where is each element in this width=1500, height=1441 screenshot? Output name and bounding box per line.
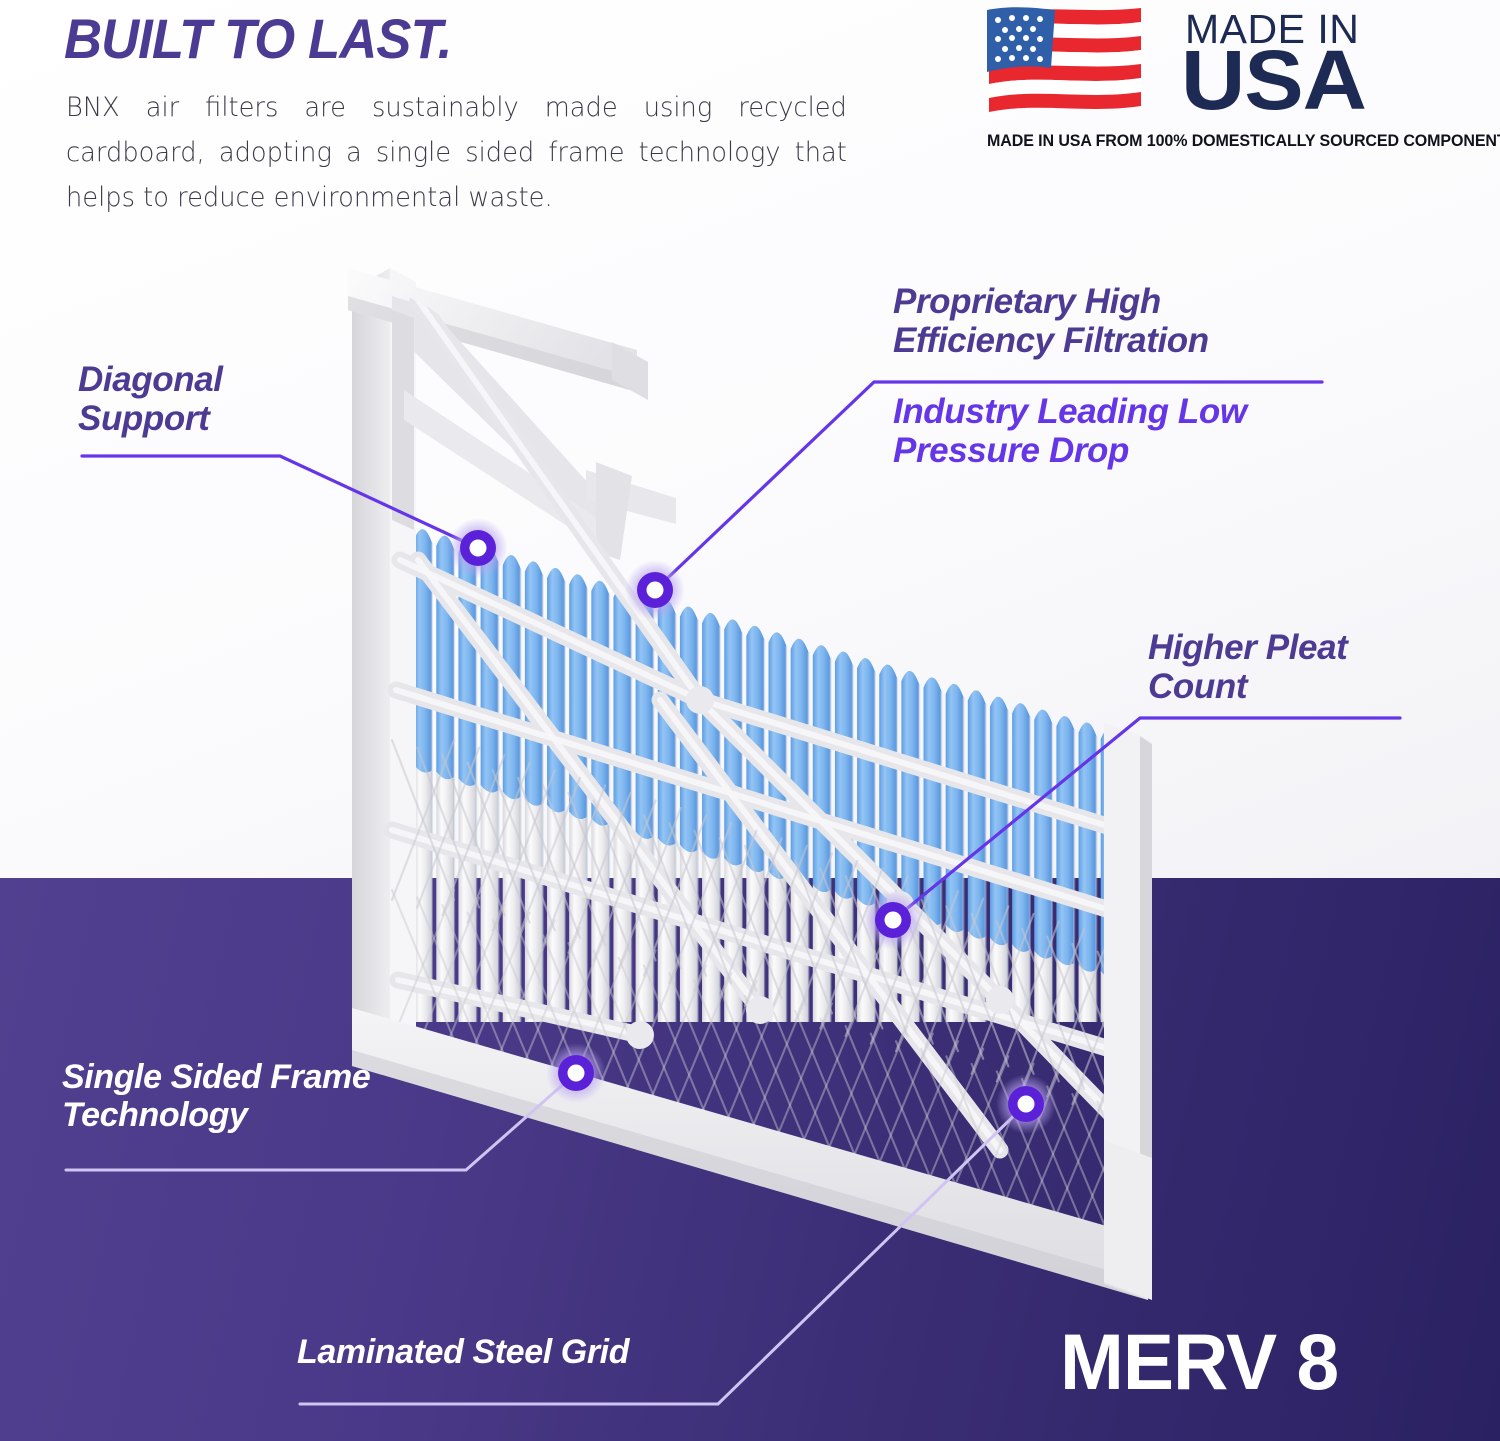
infographic-canvas: BUILT TO LAST. BNX air filters are susta… <box>0 0 1500 1441</box>
page-subcopy: BNX air filters are sustainably made usi… <box>66 85 847 220</box>
callout-label-laminated: Laminated Steel Grid <box>297 1333 817 1371</box>
callout-label-higher-pleat: Higher Pleat Count <box>1148 628 1418 706</box>
hotspot-single-sided-frame[interactable] <box>546 1043 606 1103</box>
hotspot-diagonal-support[interactable] <box>448 518 508 578</box>
badge-disclaimer: MADE IN USA FROM 100% DOMESTICALLY SOURC… <box>987 132 1500 151</box>
merv-rating-badge: MERV 8 <box>1060 1318 1338 1406</box>
callout-label-single-sided: Single Sided Frame Technology <box>62 1058 462 1134</box>
made-in-usa-badge: MADE IN USA MADE IN USA FROM 100% DOMEST… <box>985 4 1445 154</box>
hotspot-laminated-grid[interactable] <box>996 1074 1056 1134</box>
callout-label-diagonal-support: Diagonal Support <box>78 360 328 438</box>
right-rail <box>1104 722 1152 1300</box>
hotspot-filtration[interactable] <box>625 560 685 620</box>
hotspot-higher-pleat[interactable] <box>863 890 923 950</box>
bottom-rail <box>352 1008 1148 1300</box>
callout-label-industry: Industry Leading Low Pressure Drop <box>893 392 1323 470</box>
usa-flag-icon <box>985 6 1145 124</box>
callout-label-proprietary: Proprietary High Efficiency Filtration <box>893 282 1293 360</box>
page-headline: BUILT TO LAST. <box>64 6 451 71</box>
badge-country-label: USA <box>1181 37 1366 123</box>
